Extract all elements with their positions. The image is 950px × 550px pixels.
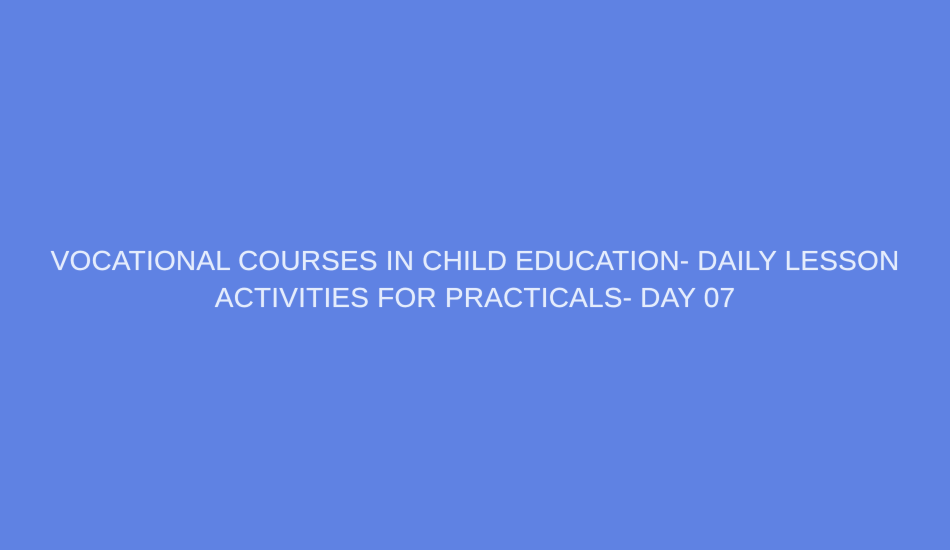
title-card: VOCATIONAL COURSES IN CHILD EDUCATION- D… xyxy=(0,0,950,550)
title-block: VOCATIONAL COURSES IN CHILD EDUCATION- D… xyxy=(35,242,915,316)
page-title: VOCATIONAL COURSES IN CHILD EDUCATION- D… xyxy=(45,242,905,316)
